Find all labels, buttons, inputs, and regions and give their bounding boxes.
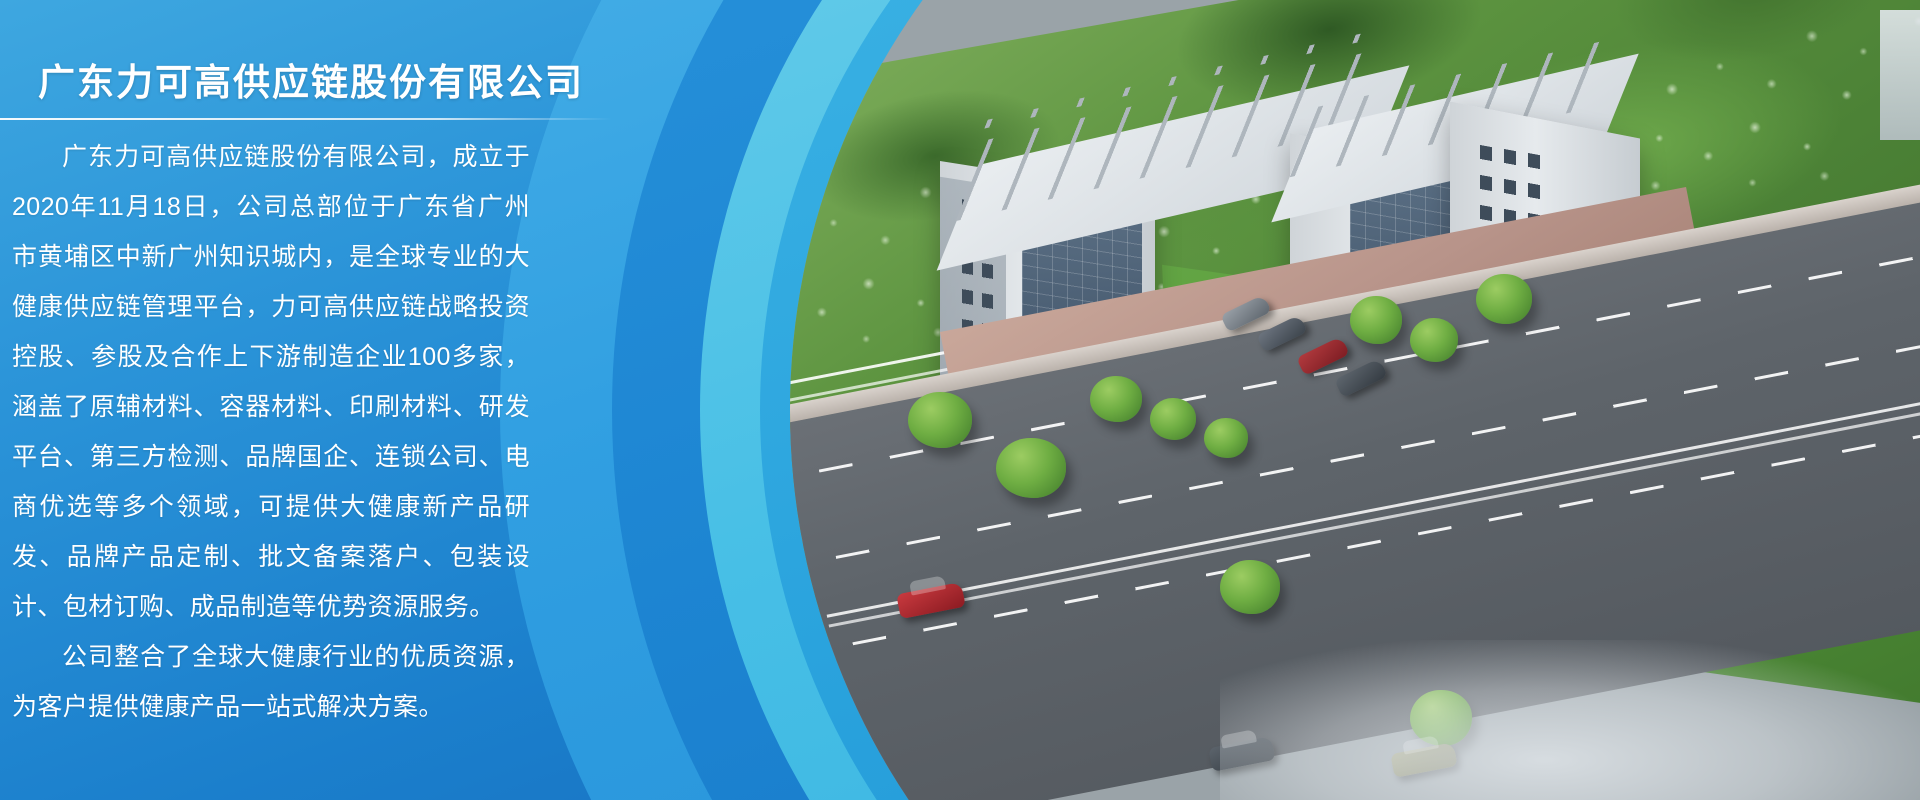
page-title: 广东力可高供应链股份有限公司 xyxy=(38,52,584,106)
road-edge-line-2 xyxy=(829,396,1920,628)
tree xyxy=(1220,560,1280,614)
company-paragraph-1: 广东力可高供应链股份有限公司，成立于2020年11月18日，公司总部位于广东省广… xyxy=(12,132,530,632)
tree xyxy=(1410,318,1458,362)
tree xyxy=(1204,418,1248,458)
tree xyxy=(996,438,1066,498)
tree xyxy=(1150,398,1196,440)
foreground-mist xyxy=(1220,640,1920,800)
campus-photo-mask xyxy=(790,0,1920,800)
campus-photo xyxy=(790,0,1920,800)
company-description: 广东力可高供应链股份有限公司，成立于2020年11月18日，公司总部位于广东省广… xyxy=(12,132,530,732)
banner-stage: 广东力可高供应链股份有限公司 广东力可高供应链股份有限公司，成立于2020年11… xyxy=(0,0,1920,800)
tree xyxy=(1476,274,1532,324)
title-divider xyxy=(0,118,612,120)
company-info-panel: 广东力可高供应链股份有限公司 广东力可高供应链股份有限公司，成立于2020年11… xyxy=(0,0,640,800)
tree xyxy=(1090,376,1142,422)
tree xyxy=(908,392,972,448)
company-paragraph-2: 公司整合了全球大健康行业的优质资源，为客户提供健康产品一站式解决方案。 xyxy=(12,632,530,732)
far-building-a xyxy=(1880,10,1920,140)
tree xyxy=(1350,296,1402,344)
road-edge-line xyxy=(827,386,1920,618)
